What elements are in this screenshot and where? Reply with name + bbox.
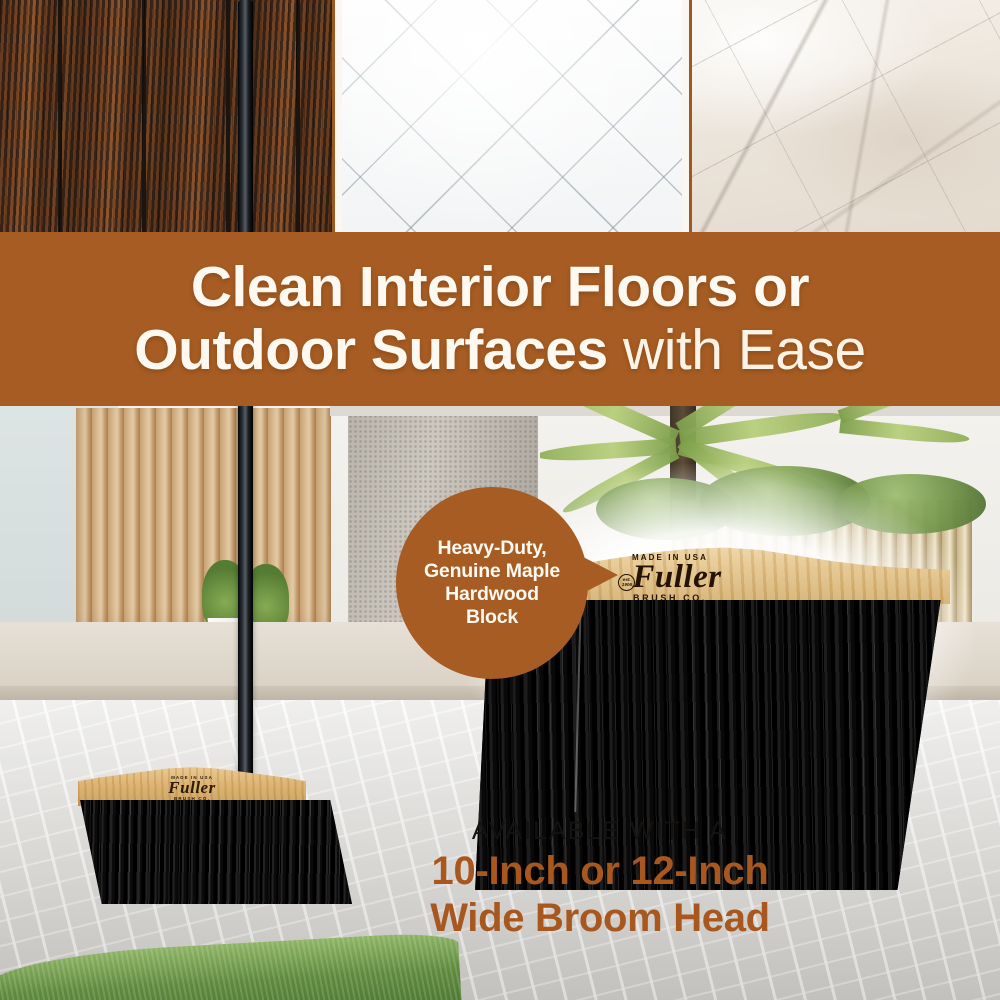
- feature-callout-bubble: Heavy-Duty,Genuine MapleHardwoodBlock: [396, 487, 588, 679]
- caption-headline-line-2: Wide Broom Head: [340, 896, 860, 941]
- full-broom-product: MADE IN USA Fuller BRUSH CO.: [60, 0, 330, 1000]
- size-availability-caption: AVAILABLE WITH A 10-Inch or 12-Inch Wide…: [340, 818, 860, 941]
- product-marketing-image: MADE IN USA est.1906 Fuller BRUSH CO. He…: [0, 0, 1000, 1000]
- fuller-wordmark: Fuller: [632, 563, 721, 593]
- floor-sample-marble: [692, 0, 1000, 232]
- headline-line-2-bold: Outdoor Surfaces: [134, 318, 607, 382]
- headline-line-1: Clean Interior Floors or: [191, 259, 809, 316]
- callout-text: Heavy-Duty,Genuine MapleHardwoodBlock: [424, 537, 560, 629]
- black-bristles-small: [80, 800, 352, 904]
- floor-sample-white-tile: [342, 0, 682, 232]
- panel-gutter-left: [335, 0, 342, 232]
- headline-line-2: Outdoor Surfaces with Ease: [134, 322, 865, 379]
- headline-banner: Clean Interior Floors or Outdoor Surface…: [0, 232, 1000, 406]
- panel-gutter-right: [682, 0, 689, 232]
- caption-headline-line-1: 10-Inch or 12-Inch: [340, 849, 860, 894]
- headline-line-2-light: with Ease: [608, 318, 866, 382]
- caption-eyebrow: AVAILABLE WITH A: [340, 818, 860, 846]
